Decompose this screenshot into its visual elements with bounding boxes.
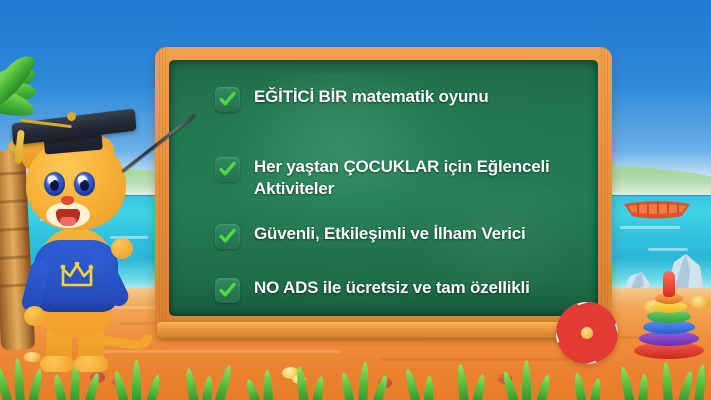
- boat-icon: [622, 196, 692, 222]
- cat-nose: [61, 196, 74, 205]
- avatar[interactable]: [4, 110, 154, 365]
- check-icon: [215, 157, 240, 182]
- feature-label: NO ADS ile ücretsiz ve tam özellikli: [254, 277, 530, 299]
- feature-item[interactable]: Güvenli, Etkileşimli ve İlham Verici: [215, 223, 576, 249]
- cat-eye: [44, 172, 65, 196]
- board-ledge: [157, 322, 610, 338]
- feature-chalkboard: EĞİTİCİ BİR matematik oyunu Her yaştan Ç…: [155, 47, 612, 332]
- cat-foot: [74, 356, 108, 372]
- crown-icon: [60, 262, 94, 288]
- rock-icon: [616, 246, 706, 292]
- board-surface: EĞİTİCİ BİR matematik oyunu Her yaştan Ç…: [169, 60, 598, 316]
- cat-tongue: [60, 217, 76, 226]
- cat-hand-left: [24, 306, 45, 326]
- feature-label: EĞİTİCİ BİR matematik oyunu: [254, 86, 489, 108]
- cat-hand-right: [111, 238, 133, 259]
- stacking-rings-icon[interactable]: [633, 289, 705, 359]
- feature-list: EĞİTİCİ BİR matematik oyunu Her yaştan Ç…: [215, 82, 576, 303]
- check-icon: [215, 278, 240, 303]
- cat-tail: [99, 328, 153, 351]
- feature-item[interactable]: NO ADS ile ücretsiz ve tam özellikli: [215, 277, 576, 303]
- feature-item[interactable]: EĞİTİCİ BİR matematik oyunu: [215, 86, 576, 112]
- feature-label: Her yaştan ÇOCUKLAR için Eğlenceli Aktiv…: [254, 156, 574, 201]
- beach-ball-icon[interactable]: [556, 302, 618, 364]
- feature-label: Güvenli, Etkileşimli ve İlham Verici: [254, 223, 526, 245]
- check-icon: [215, 224, 240, 249]
- cat-eye: [74, 172, 95, 196]
- cat-foot: [40, 356, 74, 372]
- sea-shimmer: [620, 226, 680, 229]
- feature-item[interactable]: Her yaştan ÇOCUKLAR için Eğlenceli Aktiv…: [215, 156, 576, 201]
- check-icon: [215, 87, 240, 112]
